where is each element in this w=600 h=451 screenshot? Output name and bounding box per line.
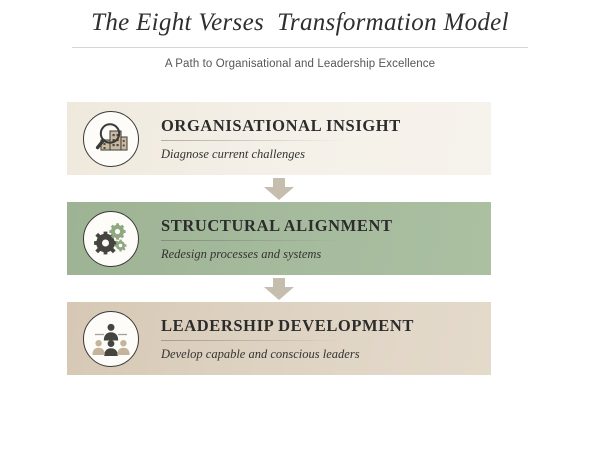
transformation-model-slide: The Eight Verses Transformation Model A … bbox=[0, 0, 600, 451]
step-title: STRUCTURAL ALIGNMENT bbox=[161, 216, 479, 235]
step-title: LEADERSHIP DEVELOPMENT bbox=[161, 316, 479, 335]
gears-icon bbox=[83, 211, 139, 267]
arrow-down-icon bbox=[264, 278, 294, 300]
page-title: The Eight Verses Transformation Model bbox=[0, 8, 600, 38]
step-title-divider bbox=[161, 240, 345, 241]
page-subtitle: A Path to Organisational and Leadership … bbox=[0, 58, 600, 70]
step-text-block: STRUCTURAL ALIGNMENT Redesign processes … bbox=[161, 216, 491, 262]
step-description: Diagnose current challenges bbox=[161, 147, 479, 162]
step-card-structural-alignment[interactable]: STRUCTURAL ALIGNMENT Redesign processes … bbox=[67, 202, 491, 275]
step-description: Redesign processes and systems bbox=[161, 247, 479, 262]
step-text-block: ORGANISATIONAL INSIGHT Diagnose current … bbox=[161, 116, 491, 162]
slide-header: The Eight Verses Transformation Model A … bbox=[0, 0, 600, 70]
step-title-divider bbox=[161, 340, 345, 341]
step-description: Develop capable and conscious leaders bbox=[161, 347, 479, 362]
step-card-leadership-development[interactable]: LEADERSHIP DEVELOPMENT Develop capable a… bbox=[67, 302, 491, 375]
connector-1 bbox=[67, 175, 491, 202]
magnifying-glass-buildings-icon bbox=[83, 111, 139, 167]
step-title: ORGANISATIONAL INSIGHT bbox=[161, 116, 479, 135]
arrow-down-icon bbox=[264, 178, 294, 200]
step-title-divider bbox=[161, 140, 345, 141]
step-card-organisational-insight[interactable]: ORGANISATIONAL INSIGHT Diagnose current … bbox=[67, 102, 491, 175]
process-flow: ORGANISATIONAL INSIGHT Diagnose current … bbox=[67, 102, 491, 375]
connector-2 bbox=[67, 275, 491, 302]
people-group-icon bbox=[83, 311, 139, 367]
step-text-block: LEADERSHIP DEVELOPMENT Develop capable a… bbox=[161, 316, 491, 362]
title-divider bbox=[72, 47, 528, 48]
